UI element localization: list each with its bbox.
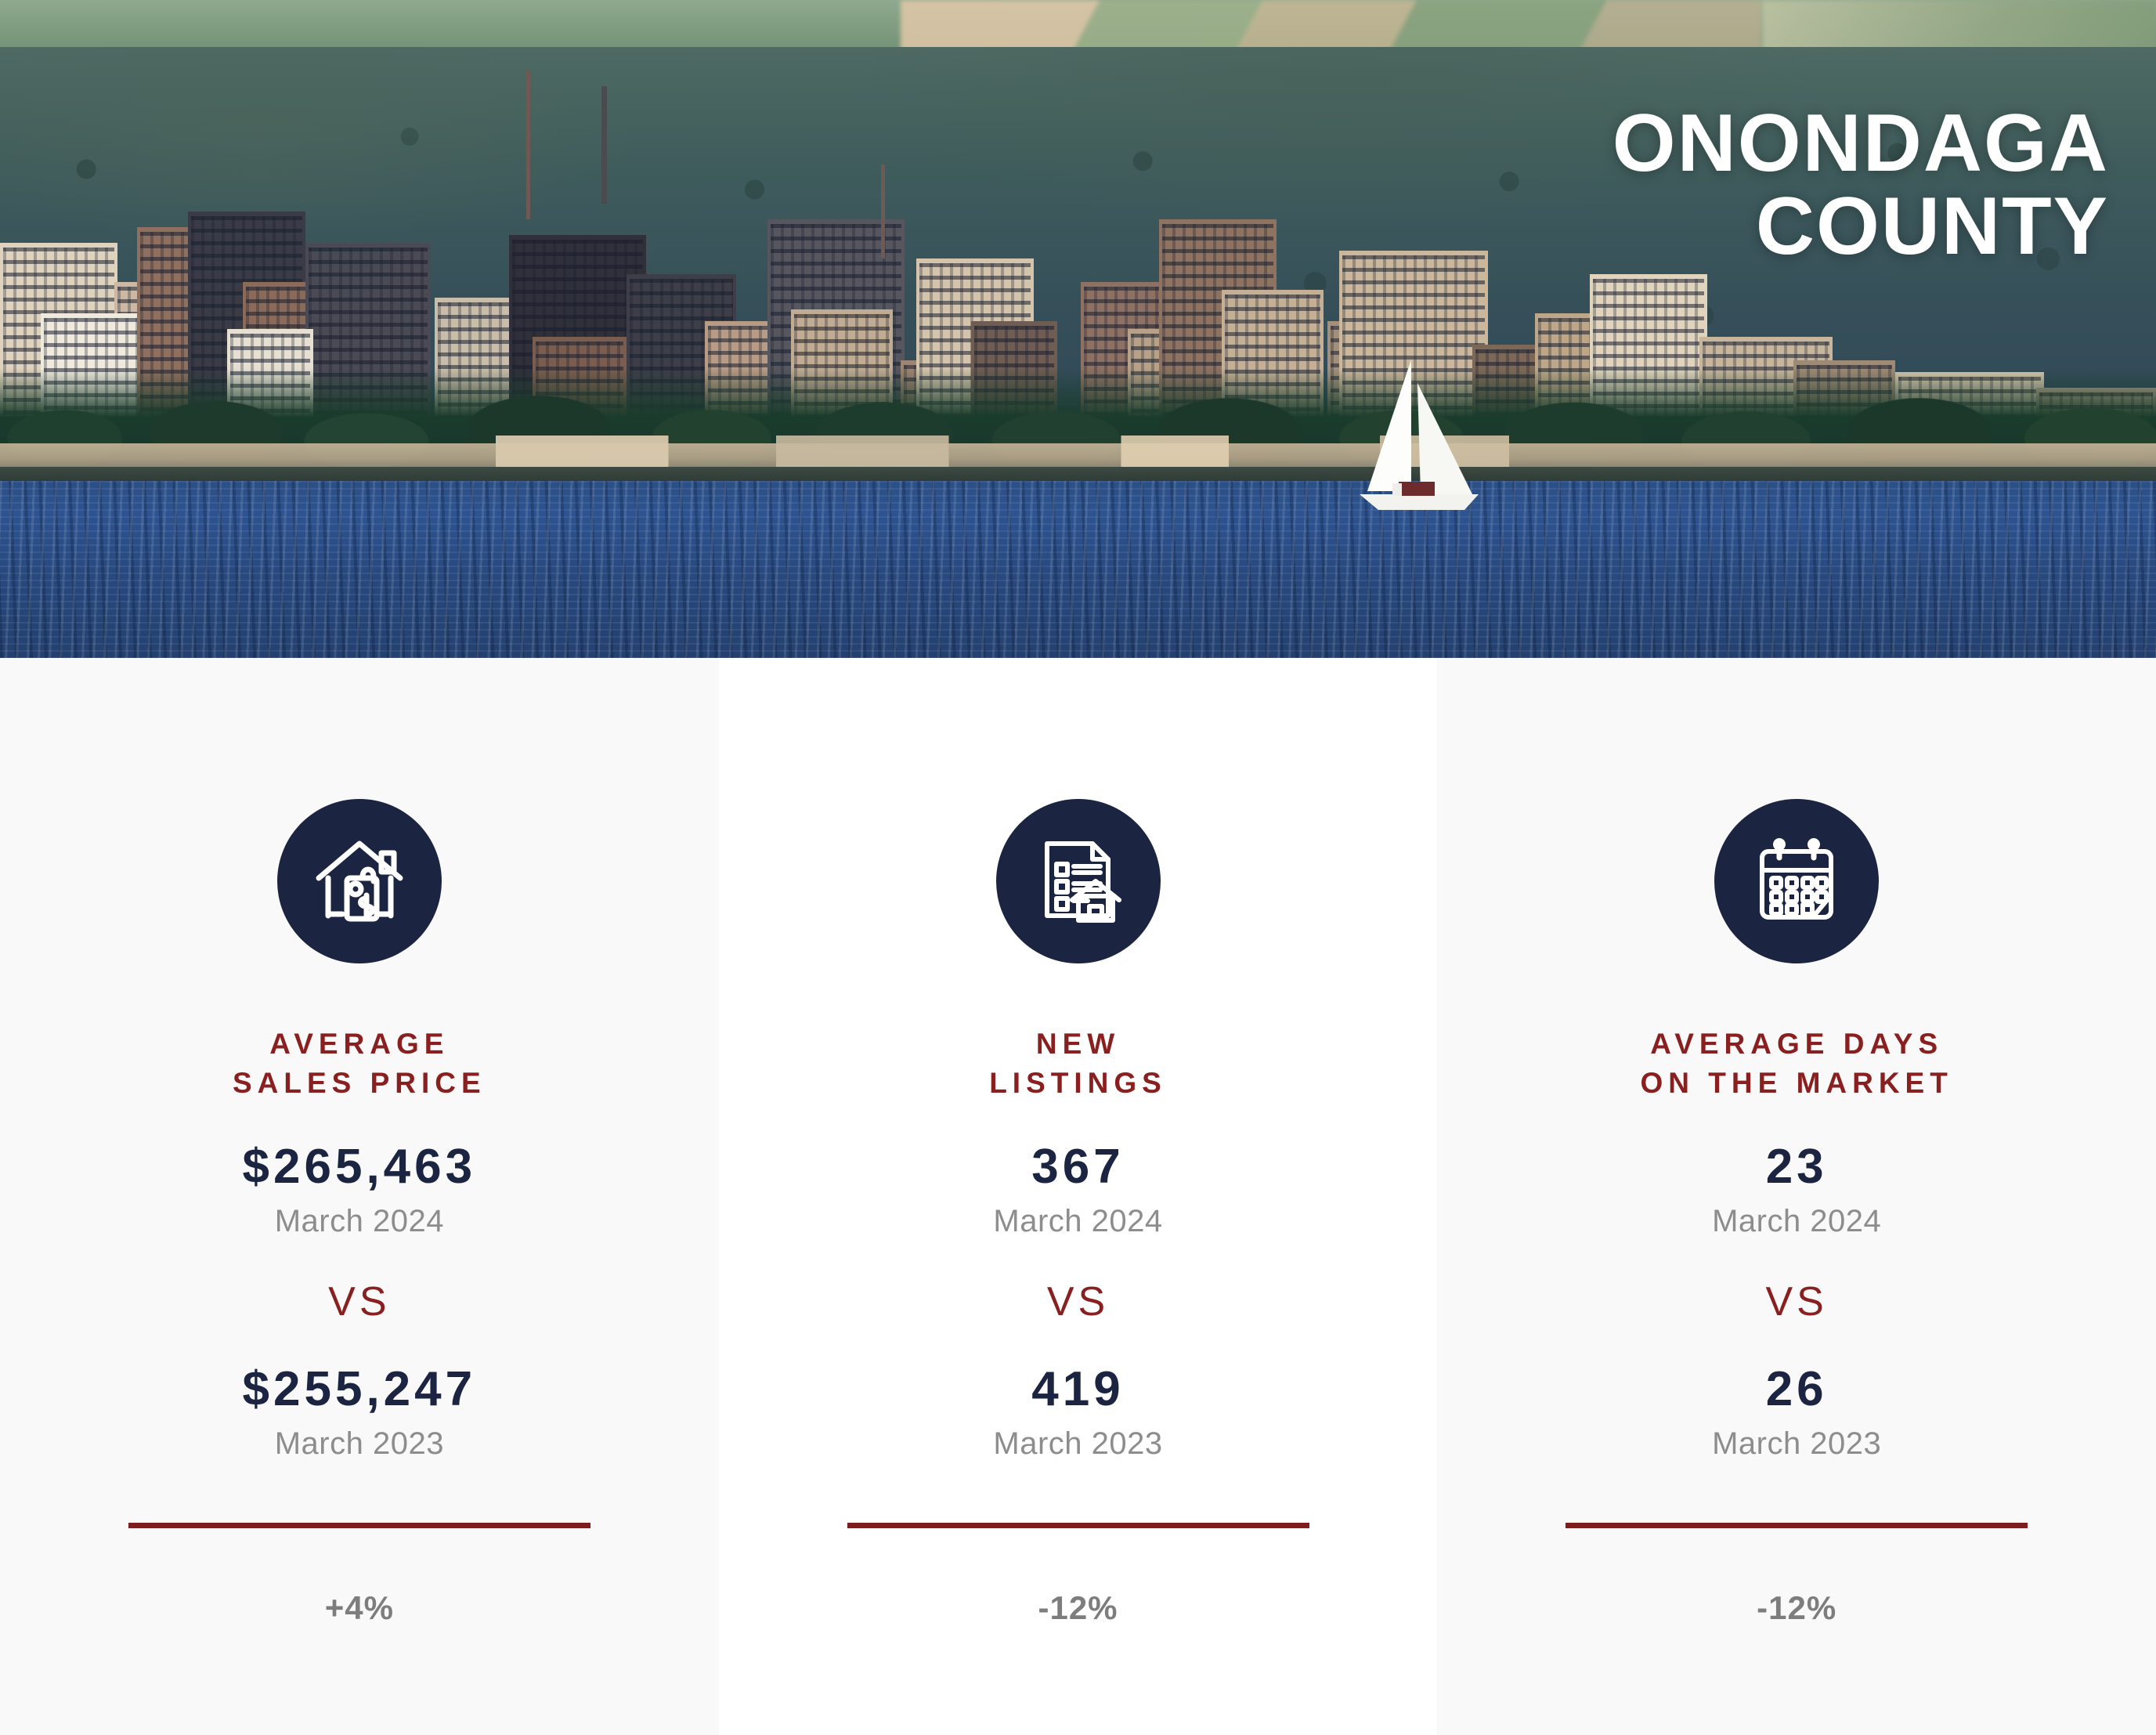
current-value: $265,463 — [0, 1139, 719, 1195]
vs-separator: VS — [1437, 1278, 2156, 1325]
sailboat-icon — [1355, 356, 1488, 525]
listing-document-house-icon — [996, 799, 1161, 963]
stat-card-average-sales-price: AVERAGE SALES PRICE $265,463 March 2024 … — [0, 658, 719, 1735]
water-ripples — [0, 481, 2156, 658]
current-value: 367 — [719, 1139, 1438, 1195]
divider-rule — [128, 1523, 590, 1528]
prior-period: March 2023 — [0, 1426, 719, 1462]
prior-value: 26 — [1437, 1361, 2156, 1417]
divider-rule — [1566, 1523, 2028, 1528]
stat-card-new-listings: NEW LISTINGS 367 March 2024 VS 419 March… — [719, 658, 1438, 1735]
percent-change: -12% — [719, 1589, 1438, 1627]
vs-separator: VS — [0, 1278, 719, 1325]
current-value: 23 — [1437, 1139, 2156, 1195]
current-period: March 2024 — [719, 1204, 1438, 1239]
current-period: March 2024 — [1437, 1204, 2156, 1239]
calendar-icon — [1714, 799, 1879, 963]
page-title: ONONDAGA COUNTY — [1248, 102, 2109, 268]
prior-value: 419 — [719, 1361, 1438, 1417]
title-line-2: COUNTY — [1248, 185, 2109, 268]
prior-period: March 2023 — [1437, 1426, 2156, 1462]
title-line-1: ONONDAGA — [1248, 102, 2109, 185]
card-label: AVERAGE DAYS ON THE MARKET — [1437, 1025, 2156, 1103]
vs-separator: VS — [719, 1278, 1438, 1325]
percent-change: -12% — [1437, 1589, 2156, 1627]
divider-rule — [847, 1523, 1309, 1528]
house-price-tag-icon — [277, 799, 442, 963]
prior-value: $255,247 — [0, 1361, 719, 1417]
stats-row: AVERAGE SALES PRICE $265,463 March 2024 … — [0, 658, 2156, 1735]
stat-card-average-days-on-market: AVERAGE DAYS ON THE MARKET 23 March 2024… — [1437, 658, 2156, 1735]
hero-banner: ONONDAGA COUNTY — [0, 0, 2156, 658]
prior-period: March 2023 — [719, 1426, 1438, 1462]
card-label: AVERAGE SALES PRICE — [0, 1025, 719, 1103]
percent-change: +4% — [0, 1589, 719, 1627]
market-stats-infographic: ONONDAGA COUNTY — [0, 0, 2156, 1735]
current-period: March 2024 — [0, 1204, 719, 1239]
card-label: NEW LISTINGS — [719, 1025, 1438, 1103]
